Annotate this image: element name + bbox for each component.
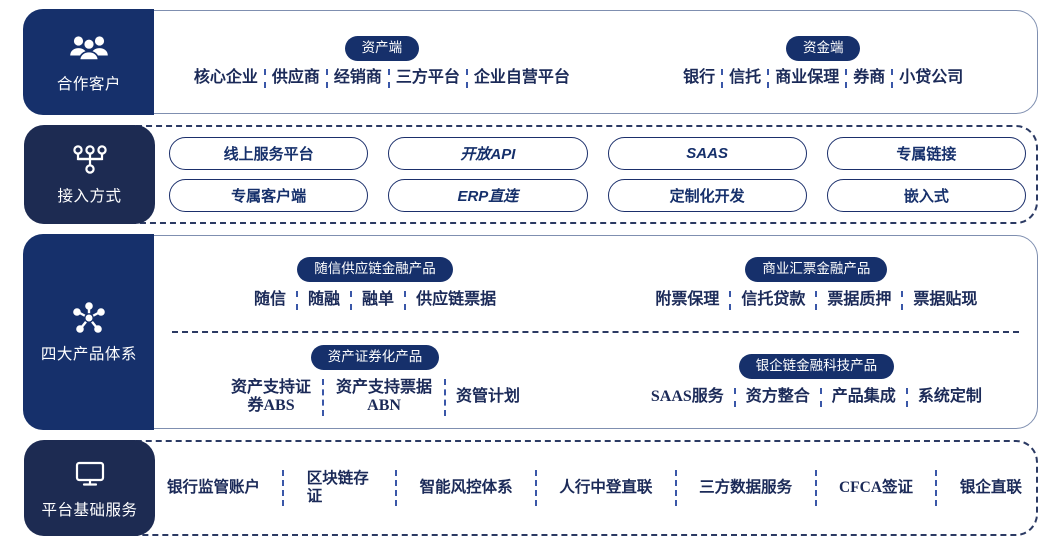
list-item[interactable]: 银企直联 (960, 479, 1022, 497)
products-lower-half: 资产证券化产品 资产支持证券ABS 资产支持票据ABN 资管计划 银企链金融科技… (154, 333, 1037, 428)
hub-network-icon (70, 301, 108, 335)
item-separator (734, 388, 736, 406)
people-group-icon (69, 31, 109, 65)
list-item[interactable]: 三方数据服务 (699, 479, 792, 497)
access-option-open-api[interactable]: 开放API (388, 137, 587, 170)
product-group-supply-chain: 随信供应链金融产品 随信 随融 融单 供应链票据 (154, 236, 595, 331)
section-title: 平台基础服务 (41, 498, 137, 520)
products-upper-half: 随信供应链金融产品 随信 随融 融单 供应链票据 商业汇票金融产品 附票保理 (154, 236, 1037, 331)
badge-supply-chain-finance: 随信供应链金融产品 (297, 257, 453, 282)
item-separator (767, 69, 769, 87)
platform-panel: 银行监管账户 区块链存证 智能风控体系 人行中登直联 三方数据服务 CFCA签证… (155, 442, 1036, 534)
section-title: 接入方式 (57, 184, 121, 206)
list-item[interactable]: 资产支持证券ABS (230, 379, 312, 416)
section-partners: 合作客户 资产端 核心企业 供应商 经销商 三方平台 企业自营平台 资金端 (24, 10, 1038, 114)
access-option-erp-direct[interactable]: ERP直连 (388, 179, 587, 212)
access-pill-row-1: 线上服务平台 开放API SAAS 专属链接 (169, 137, 1026, 170)
list-item[interactable]: 票据贴现 (913, 291, 977, 309)
item-separator (444, 379, 446, 416)
list-item[interactable]: 银行监管账户 (167, 479, 260, 497)
item-separator (729, 291, 731, 309)
list-item[interactable]: 供应商 (272, 69, 320, 87)
list-item[interactable]: 附票保理 (655, 291, 719, 309)
cluster-funding-side: 资金端 银行 信托 商业保理 券商 小贷公司 (609, 11, 1037, 113)
cluster-asset-side: 资产端 核心企业 供应商 经销商 三方平台 企业自营平台 (154, 11, 609, 113)
partners-panel: 资产端 核心企业 供应商 经销商 三方平台 企业自营平台 资金端 银行 (154, 11, 1037, 113)
item-separator (388, 69, 390, 87)
item-separator (296, 291, 298, 309)
list-item[interactable]: 随信 (254, 291, 286, 309)
list-item[interactable]: 核心企业 (194, 69, 258, 87)
list-item[interactable]: 区块链存证 (307, 470, 373, 506)
access-panel: 线上服务平台 开放API SAAS 专属链接 专属客户端 ERP直连 定制化开发… (155, 127, 1036, 222)
supply-chain-items: 随信 随融 融单 供应链票据 (254, 291, 496, 309)
list-item[interactable]: 资产支持票据ABN (334, 379, 434, 416)
network-branch-icon (73, 143, 107, 177)
item-separator (322, 379, 324, 416)
item-separator (901, 291, 903, 309)
badge-asset-securitization: 资产证券化产品 (311, 345, 440, 370)
platform-items: 银行监管账户 区块链存证 智能风控体系 人行中登直联 三方数据服务 CFCA签证… (167, 470, 1022, 506)
item-separator (535, 470, 537, 506)
item-separator (404, 291, 406, 309)
list-item[interactable]: 企业自营平台 (474, 69, 570, 87)
access-option-online-platform[interactable]: 线上服务平台 (169, 137, 368, 170)
item-separator (466, 69, 468, 87)
item-separator (395, 470, 397, 506)
product-group-fintech: 银企链金融科技产品 SAAS服务 资方整合 产品集成 系统定制 (596, 333, 1037, 428)
product-group-commercial-bill: 商业汇票金融产品 附票保理 信托贷款 票据质押 票据贴现 (596, 236, 1037, 331)
section-label-platform: 平台基础服务 (24, 440, 155, 536)
item-separator (815, 470, 817, 506)
list-item[interactable]: 经销商 (334, 69, 382, 87)
item-separator (935, 470, 937, 506)
section-title: 四大产品体系 (41, 342, 137, 364)
item-separator (891, 69, 893, 87)
section-platform: 平台基础服务 银行监管账户 区块链存证 智能风控体系 人行中登直联 三方数据服务… (24, 440, 1038, 536)
list-item[interactable]: 系统定制 (918, 388, 982, 406)
access-option-embedded[interactable]: 嵌入式 (827, 179, 1026, 212)
list-item[interactable]: 三方平台 (396, 69, 460, 87)
item-separator (350, 291, 352, 309)
badge-commercial-bill-finance: 商业汇票金融产品 (745, 257, 887, 282)
list-item[interactable]: 信托 (729, 69, 761, 87)
list-item[interactable]: 资管计划 (456, 388, 520, 406)
section-access: 接入方式 线上服务平台 开放API SAAS 专属链接 专属客户端 ERP直连 … (24, 125, 1038, 224)
item-separator (675, 470, 677, 506)
securitization-items: 资产支持证券ABS 资产支持票据ABN 资管计划 (230, 379, 520, 416)
item-separator (845, 69, 847, 87)
badge-funding-side: 资金端 (786, 36, 861, 61)
list-item[interactable]: 小贷公司 (899, 69, 963, 87)
section-title: 合作客户 (57, 72, 121, 94)
list-item[interactable]: 产品集成 (832, 388, 896, 406)
list-item[interactable]: 随融 (308, 291, 340, 309)
item-separator (326, 69, 328, 87)
item-separator (264, 69, 266, 87)
access-option-saas[interactable]: SAAS (608, 137, 807, 170)
list-item[interactable]: 人行中登直联 (559, 479, 652, 497)
products-panel: 随信供应链金融产品 随信 随融 融单 供应链票据 商业汇票金融产品 附票保理 (154, 236, 1037, 428)
item-separator (721, 69, 723, 87)
access-option-custom-dev[interactable]: 定制化开发 (608, 179, 807, 212)
list-item[interactable]: 票据质押 (827, 291, 891, 309)
funding-side-items: 银行 信托 商业保理 券商 小贷公司 (683, 69, 963, 87)
section-label-access: 接入方式 (24, 125, 155, 224)
access-pill-row-2: 专属客户端 ERP直连 定制化开发 嵌入式 (169, 179, 1026, 212)
list-item[interactable]: 融单 (362, 291, 394, 309)
list-item[interactable]: 资方整合 (746, 388, 810, 406)
monitor-icon (74, 457, 106, 491)
fintech-items: SAAS服务 资方整合 产品集成 系统定制 (651, 388, 982, 406)
list-item[interactable]: 信托贷款 (741, 291, 805, 309)
product-group-securitization: 资产证券化产品 资产支持证券ABS 资产支持票据ABN 资管计划 (154, 333, 595, 428)
access-option-dedicated-link[interactable]: 专属链接 (827, 137, 1026, 170)
item-separator (815, 291, 817, 309)
section-products: 四大产品体系 随信供应链金融产品 随信 随融 融单 供应链票据 (24, 235, 1038, 429)
list-item[interactable]: 券商 (853, 69, 885, 87)
item-separator (820, 388, 822, 406)
section-label-products: 四大产品体系 (23, 234, 154, 429)
access-option-dedicated-client[interactable]: 专属客户端 (169, 179, 368, 212)
commercial-bill-items: 附票保理 信托贷款 票据质押 票据贴现 (655, 291, 977, 309)
item-separator (282, 470, 284, 506)
item-separator (906, 388, 908, 406)
asset-side-items: 核心企业 供应商 经销商 三方平台 企业自营平台 (194, 69, 570, 87)
list-item[interactable]: 智能风控体系 (420, 479, 513, 497)
badge-asset-side: 资产端 (345, 36, 420, 61)
list-item[interactable]: CFCA签证 (839, 479, 913, 497)
list-item[interactable]: SAAS服务 (651, 388, 724, 406)
list-item[interactable]: 供应链票据 (416, 291, 496, 309)
list-item[interactable]: 银行 (683, 69, 715, 87)
badge-bank-enterprise-fintech: 银企链金融科技产品 (739, 354, 895, 379)
architecture-diagram: 合作客户 资产端 核心企业 供应商 经销商 三方平台 企业自营平台 资金端 (0, 0, 1062, 552)
section-label-partners: 合作客户 (23, 9, 154, 114)
list-item[interactable]: 商业保理 (775, 69, 839, 87)
